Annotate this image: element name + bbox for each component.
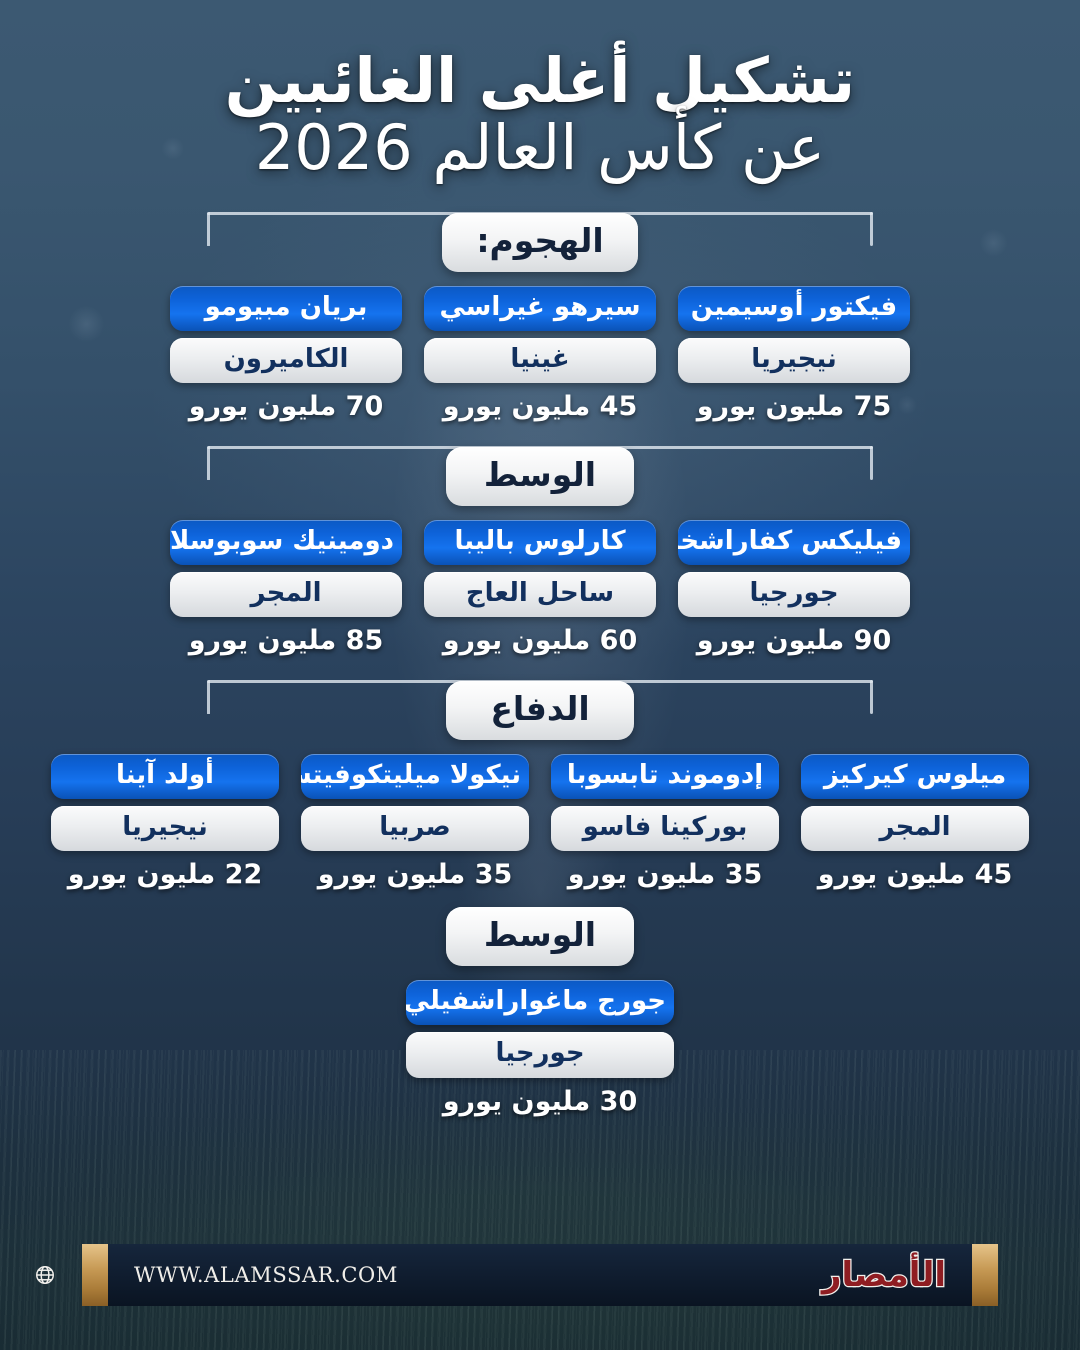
player-country: المجر: [801, 806, 1029, 851]
section-header-label: الوسط: [446, 447, 634, 506]
footer-content: الأمصار WWW.ALAMSSAR.COM: [108, 1244, 972, 1306]
player-value: 35 مليون يورو: [551, 860, 779, 890]
player-card[interactable]: سيرهو غيراسي غينيا 45 مليون يورو: [424, 286, 656, 422]
site-url[interactable]: WWW.ALAMSSAR.COM: [134, 1263, 398, 1287]
section-defense: الدفاع ميلوس كيركيز المجر 45 مليون يورو …: [0, 664, 1080, 890]
player-value: 85 مليون يورو: [170, 626, 402, 656]
player-name: فيليكس كفاراشخيليا: [678, 520, 910, 565]
section-midfield-single: الوسط جورج ماغواراشفيلي جورجيا 30 مليون …: [0, 907, 1080, 1116]
player-country: بوركينا فاسو: [551, 806, 779, 851]
player-country: المجر: [170, 572, 402, 617]
title-line-2: عن كأس العالم 2026: [40, 115, 1040, 182]
section-header-label: الدفاع: [446, 681, 634, 740]
section-header-label: الوسط: [446, 907, 634, 966]
section-header-defense: الدفاع: [0, 681, 1080, 740]
infographic-page: تشكيل أغلى الغائبين عن كأس العالم 2026 ا…: [0, 0, 1080, 1350]
player-country: نيجيريا: [678, 338, 910, 383]
player-country: جورجيا: [406, 1032, 674, 1077]
section-header-midfield: الوسط: [0, 447, 1080, 506]
player-card[interactable]: ميلوس كيركيز المجر 45 مليون يورو: [801, 754, 1029, 890]
player-country: الكاميرون: [170, 338, 402, 383]
player-name: بريان مبيومو: [170, 286, 402, 331]
player-name: فيكتور أوسيمين: [678, 286, 910, 331]
player-value: 45 مليون يورو: [801, 860, 1029, 890]
player-country: جورجيا: [678, 572, 910, 617]
section-header-attack: الهجوم:: [0, 213, 1080, 272]
player-value: 30 مليون يورو: [406, 1087, 674, 1117]
footer-bar: الأمصار WWW.ALAMSSAR.COM: [0, 1244, 1080, 1306]
title-line-1: تشكيل أغلى الغائبين: [40, 48, 1040, 115]
player-value: 60 مليون يورو: [424, 626, 656, 656]
player-row-midfield: فيليكس كفاراشخيليا جورجيا 90 مليون يورو …: [0, 506, 1080, 656]
player-name: ميلوس كيركيز: [801, 754, 1029, 799]
player-value: 45 مليون يورو: [424, 392, 656, 422]
section-header-midfield-single: الوسط: [0, 907, 1080, 966]
gold-accent-right: [82, 1244, 108, 1306]
player-country: صربيا: [301, 806, 529, 851]
player-value: 70 مليون يورو: [170, 392, 402, 422]
player-value: 22 مليون يورو: [51, 860, 279, 890]
logo-text: الأمصار: [822, 1258, 946, 1292]
player-name: سيرهو غيراسي: [424, 286, 656, 331]
player-name: دومينيك سوبوسلاي: [170, 520, 402, 565]
player-name: كارلوس باليبا: [424, 520, 656, 565]
player-name: جورج ماغواراشفيلي: [406, 980, 674, 1025]
player-card[interactable]: دومينيك سوبوسلاي المجر 85 مليون يورو: [170, 520, 402, 656]
player-country: نيجيريا: [51, 806, 279, 851]
globe-icon: [34, 1264, 56, 1286]
player-row-single: جورج ماغواراشفيلي جورجيا 30 مليون يورو: [0, 966, 1080, 1116]
player-card[interactable]: كارلوس باليبا ساحل العاج 60 مليون يورو: [424, 520, 656, 656]
site-logo[interactable]: الأمصار: [822, 1258, 946, 1292]
player-name: أولد آينا: [51, 754, 279, 799]
player-row-defense: ميلوس كيركيز المجر 45 مليون يورو إدوموند…: [0, 740, 1080, 890]
section-midfield: الوسط فيليكس كفاراشخيليا جورجيا 90 مليون…: [0, 430, 1080, 656]
player-row-attack: فيكتور أوسيمين نيجيريا 75 مليون يورو سير…: [0, 272, 1080, 422]
gold-accent-left: [972, 1244, 998, 1306]
section-header-label: الهجوم:: [442, 213, 637, 272]
player-country: ساحل العاج: [424, 572, 656, 617]
player-value: 90 مليون يورو: [678, 626, 910, 656]
player-card[interactable]: بريان مبيومو الكاميرون 70 مليون يورو: [170, 286, 402, 422]
player-card[interactable]: جورج ماغواراشفيلي جورجيا 30 مليون يورو: [406, 980, 674, 1116]
player-value: 75 مليون يورو: [678, 392, 910, 422]
player-name: نيكولا ميليتكوفيتش: [301, 754, 529, 799]
player-card[interactable]: أولد آينا نيجيريا 22 مليون يورو: [51, 754, 279, 890]
section-attack: الهجوم: فيكتور أوسيمين نيجيريا 75 مليون …: [0, 196, 1080, 422]
player-country: غينيا: [424, 338, 656, 383]
page-title: تشكيل أغلى الغائبين عن كأس العالم 2026: [0, 0, 1080, 188]
player-card[interactable]: نيكولا ميليتكوفيتش صربيا 35 مليون يورو: [301, 754, 529, 890]
player-value: 35 مليون يورو: [301, 860, 529, 890]
player-card[interactable]: فيكتور أوسيمين نيجيريا 75 مليون يورو: [678, 286, 910, 422]
player-card[interactable]: إدوموند تابسوبا بوركينا فاسو 35 مليون يو…: [551, 754, 779, 890]
player-name: إدوموند تابسوبا: [551, 754, 779, 799]
player-card[interactable]: فيليكس كفاراشخيليا جورجيا 90 مليون يورو: [678, 520, 910, 656]
